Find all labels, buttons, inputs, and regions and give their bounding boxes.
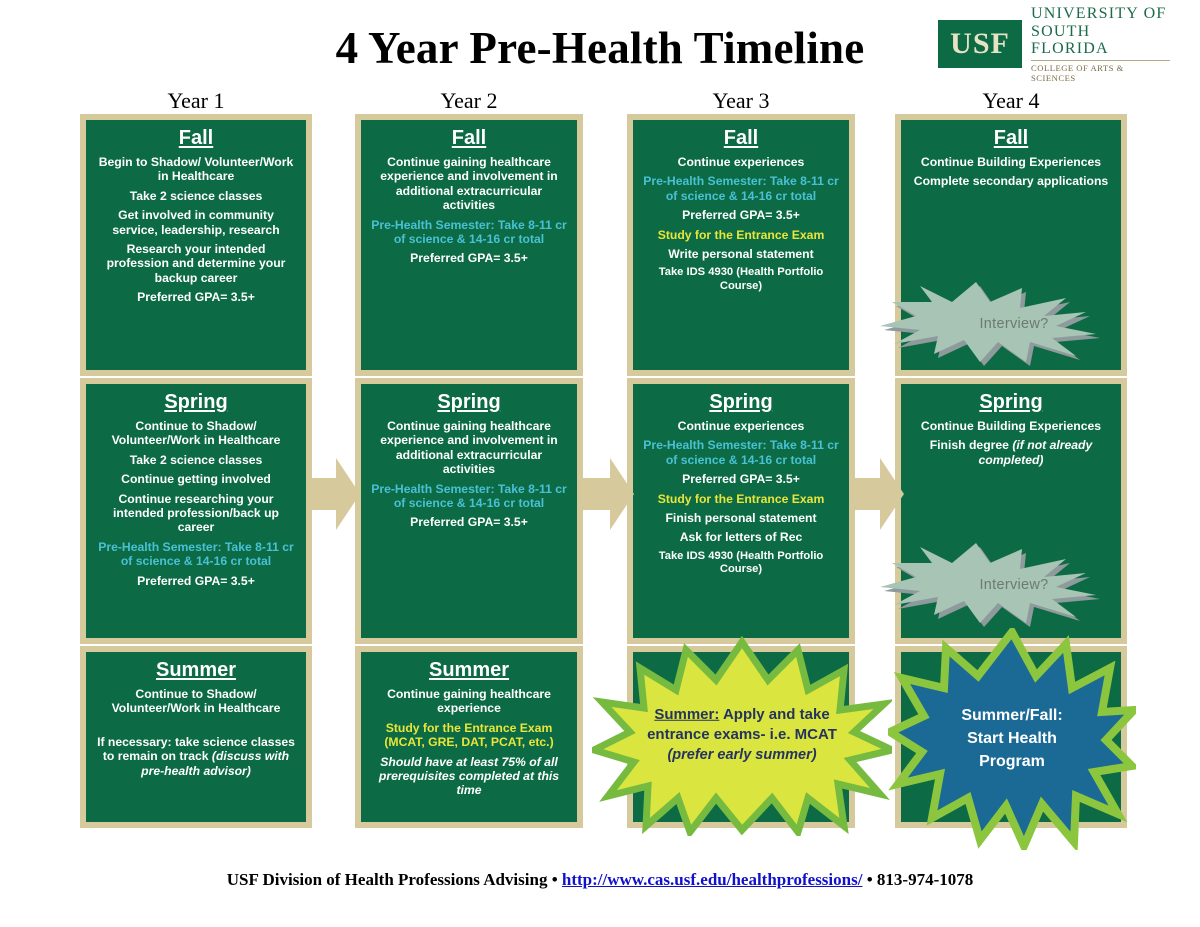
panel-line-year2-fall-2: Pre-Health Semester: Take 8-11 cr of sci… <box>369 218 569 247</box>
panel-year1-spring[interactable]: SpringContinue to Shadow/ Volunteer/Work… <box>80 378 312 644</box>
season-heading-year1-summer: Summer <box>94 658 298 682</box>
panel-content-year1-spring: SpringContinue to Shadow/ Volunteer/Work… <box>86 384 306 597</box>
panel-content-year1-fall: FallBegin to Shadow/ Volunteer/Work in H… <box>86 120 306 314</box>
panel-content-year3-spring: SpringContinue experiencesPre-Health Sem… <box>633 384 849 585</box>
panel-line-year2-spring-1: Continue gaining healthcare experience a… <box>369 419 569 477</box>
panel-line-year3-spring-6: Ask for letters of Rec <box>641 530 841 544</box>
season-heading-year2-spring: Spring <box>369 390 569 414</box>
spacer <box>94 721 298 730</box>
panel-line-year2-fall-1: Continue gaining healthcare experience a… <box>369 155 569 213</box>
year-label-4: Year 4 <box>895 88 1127 112</box>
panel-content-year2-summer: SummerContinue gaining healthcare experi… <box>361 652 577 807</box>
year-label-1: Year 1 <box>80 88 312 112</box>
footer: USF Division of Health Professions Advis… <box>0 870 1200 890</box>
panel-content-year3-fall: FallContinue experiencesPre-Health Semes… <box>633 120 849 302</box>
panel-year3-spring[interactable]: SpringContinue experiencesPre-Health Sem… <box>627 378 855 644</box>
page-header: 4 Year Pre-Health Timeline USF UNIVERSIT… <box>0 0 1200 86</box>
usf-logo-mark-text: USF <box>950 27 1010 61</box>
panel-year3-fall[interactable]: FallContinue experiencesPre-Health Semes… <box>627 114 855 376</box>
panel-year2-spring[interactable]: SpringContinue gaining healthcare experi… <box>355 378 583 644</box>
season-heading-year2-fall: Fall <box>369 126 569 150</box>
panel-line-year3-fall-4: Study for the Entrance Exam <box>641 228 841 242</box>
burst-interview-fall: Interview? <box>880 282 1148 366</box>
panel-line-year1-fall-5: Preferred GPA= 3.5+ <box>94 290 298 304</box>
panel-year1-fall[interactable]: FallBegin to Shadow/ Volunteer/Work in H… <box>80 114 312 376</box>
season-heading-year3-fall: Fall <box>641 126 841 150</box>
year-label-3: Year 3 <box>627 88 855 112</box>
panel-line-year1-summer-1: Continue to Shadow/ Volunteer/Work in He… <box>94 687 298 716</box>
panel-line-year3-fall-5: Write personal statement <box>641 247 841 261</box>
panel-line-year1-spring-3: Continue getting involved <box>94 472 298 486</box>
burst-summer-mcat: Summer: Apply and take entrance exams- i… <box>592 636 892 836</box>
season-heading-year4-spring: Spring <box>909 390 1113 414</box>
panel-content-year2-spring: SpringContinue gaining healthcare experi… <box>361 384 577 539</box>
panel-line-italic-tail: (if not already completed) <box>978 438 1092 466</box>
season-heading-year1-spring: Spring <box>94 390 298 414</box>
panel-line-year3-fall-3: Preferred GPA= 3.5+ <box>641 208 841 222</box>
panel-year1-summer[interactable]: SummerContinue to Shadow/ Volunteer/Work… <box>80 646 312 828</box>
panel-line-year4-spring-1: Continue Building Experiences <box>909 419 1113 433</box>
panel-line-year1-spring-4: Continue researching your intended profe… <box>94 492 298 535</box>
usf-logo-mark: USF <box>938 20 1022 68</box>
panel-line-year1-spring-1: Continue to Shadow/ Volunteer/Work in He… <box>94 419 298 448</box>
panel-line-year3-fall-2: Pre-Health Semester: Take 8-11 cr of sci… <box>641 174 841 203</box>
season-heading-year1-fall: Fall <box>94 126 298 150</box>
burst-interview-spring: Interview? <box>880 543 1148 627</box>
panel-year2-summer[interactable]: SummerContinue gaining healthcare experi… <box>355 646 583 828</box>
arrow-year2-to-year3 <box>580 452 634 536</box>
usf-logo-wordmark: UNIVERSITY OF SOUTH FLORIDA COLLEGE OF A… <box>1022 20 1170 68</box>
panel-line-year2-spring-3: Preferred GPA= 3.5+ <box>369 515 569 529</box>
panel-line-year2-spring-2: Pre-Health Semester: Take 8-11 cr of sci… <box>369 482 569 511</box>
season-heading-year2-summer: Summer <box>369 658 569 682</box>
burst-start-health-program: Summer/Fall: Start Health Program <box>888 628 1136 850</box>
panel-content-year4-spring: SpringContinue Building ExperiencesFinis… <box>901 384 1121 476</box>
panel-line-year3-spring-7: Take IDS 4930 (Health Portfolio Course) <box>641 550 841 576</box>
panel-line-year1-spring-5: Pre-Health Semester: Take 8-11 cr of sci… <box>94 540 298 569</box>
footer-after: • 813-974-1078 <box>862 870 973 889</box>
panel-content-year4-fall: FallContinue Building ExperiencesComplet… <box>901 120 1121 198</box>
panel-content-year2-fall: FallContinue gaining healthcare experien… <box>361 120 577 275</box>
panel-line-year3-fall-6: Take IDS 4930 (Health Portfolio Course) <box>641 266 841 292</box>
panel-line-year3-spring-4: Study for the Entrance Exam <box>641 492 841 506</box>
panel-line-year2-summer-1: Continue gaining healthcare experience <box>369 687 569 716</box>
panel-line-year2-summer-3: Should have at least 75% of all prerequi… <box>369 755 569 798</box>
panel-line-year2-fall-3: Preferred GPA= 3.5+ <box>369 251 569 265</box>
panel-line-year3-spring-5: Finish personal statement <box>641 511 841 525</box>
year-label-2: Year 2 <box>355 88 583 112</box>
panel-line-year1-summer-3: If necessary: take science classes to re… <box>94 735 298 778</box>
panel-line-year1-fall-3: Get involved in community service, leade… <box>94 208 298 237</box>
usf-logo: USF UNIVERSITY OF SOUTH FLORIDA COLLEGE … <box>938 20 1170 68</box>
panel-year2-fall[interactable]: FallContinue gaining healthcare experien… <box>355 114 583 376</box>
footer-before: USF Division of Health Professions Advis… <box>227 870 562 889</box>
season-heading-year4-fall: Fall <box>909 126 1113 150</box>
usf-logo-line2: SOUTH FLORIDA <box>1031 23 1170 59</box>
panel-line-year3-spring-1: Continue experiences <box>641 419 841 433</box>
panel-line-year1-fall-4: Research your intended profession and de… <box>94 242 298 285</box>
panel-line-year3-fall-1: Continue experiences <box>641 155 841 169</box>
panel-line-year1-spring-6: Preferred GPA= 3.5+ <box>94 574 298 588</box>
panel-line-year3-spring-2: Pre-Health Semester: Take 8-11 cr of sci… <box>641 438 841 467</box>
panel-line-year4-fall-1: Continue Building Experiences <box>909 155 1113 169</box>
arrow-year1-to-year2 <box>306 452 360 536</box>
usf-logo-line1: UNIVERSITY OF <box>1031 5 1170 23</box>
panel-content-year1-summer: SummerContinue to Shadow/ Volunteer/Work… <box>86 652 306 787</box>
usf-logo-line3: COLLEGE OF ARTS & SCIENCES <box>1031 60 1170 83</box>
panel-line-year2-summer-2: Study for the Entrance Exam (MCAT, GRE, … <box>369 721 569 750</box>
panel-line-year4-spring-2: Finish degree (if not already completed) <box>909 438 1113 467</box>
panel-line-year1-fall-2: Take 2 science classes <box>94 189 298 203</box>
panel-line-year3-spring-3: Preferred GPA= 3.5+ <box>641 472 841 486</box>
panel-line-year4-fall-2: Complete secondary applications <box>909 174 1113 188</box>
footer-url-link[interactable]: http://www.cas.usf.edu/healthprofessions… <box>562 870 863 889</box>
panel-line-year1-spring-2: Take 2 science classes <box>94 453 298 467</box>
arrow-year3-to-year4 <box>850 452 904 536</box>
panel-line-year1-fall-1: Begin to Shadow/ Volunteer/Work in Healt… <box>94 155 298 184</box>
season-heading-year3-spring: Spring <box>641 390 841 414</box>
panel-line-italic-tail: (discuss with pre-health advisor) <box>141 749 289 777</box>
